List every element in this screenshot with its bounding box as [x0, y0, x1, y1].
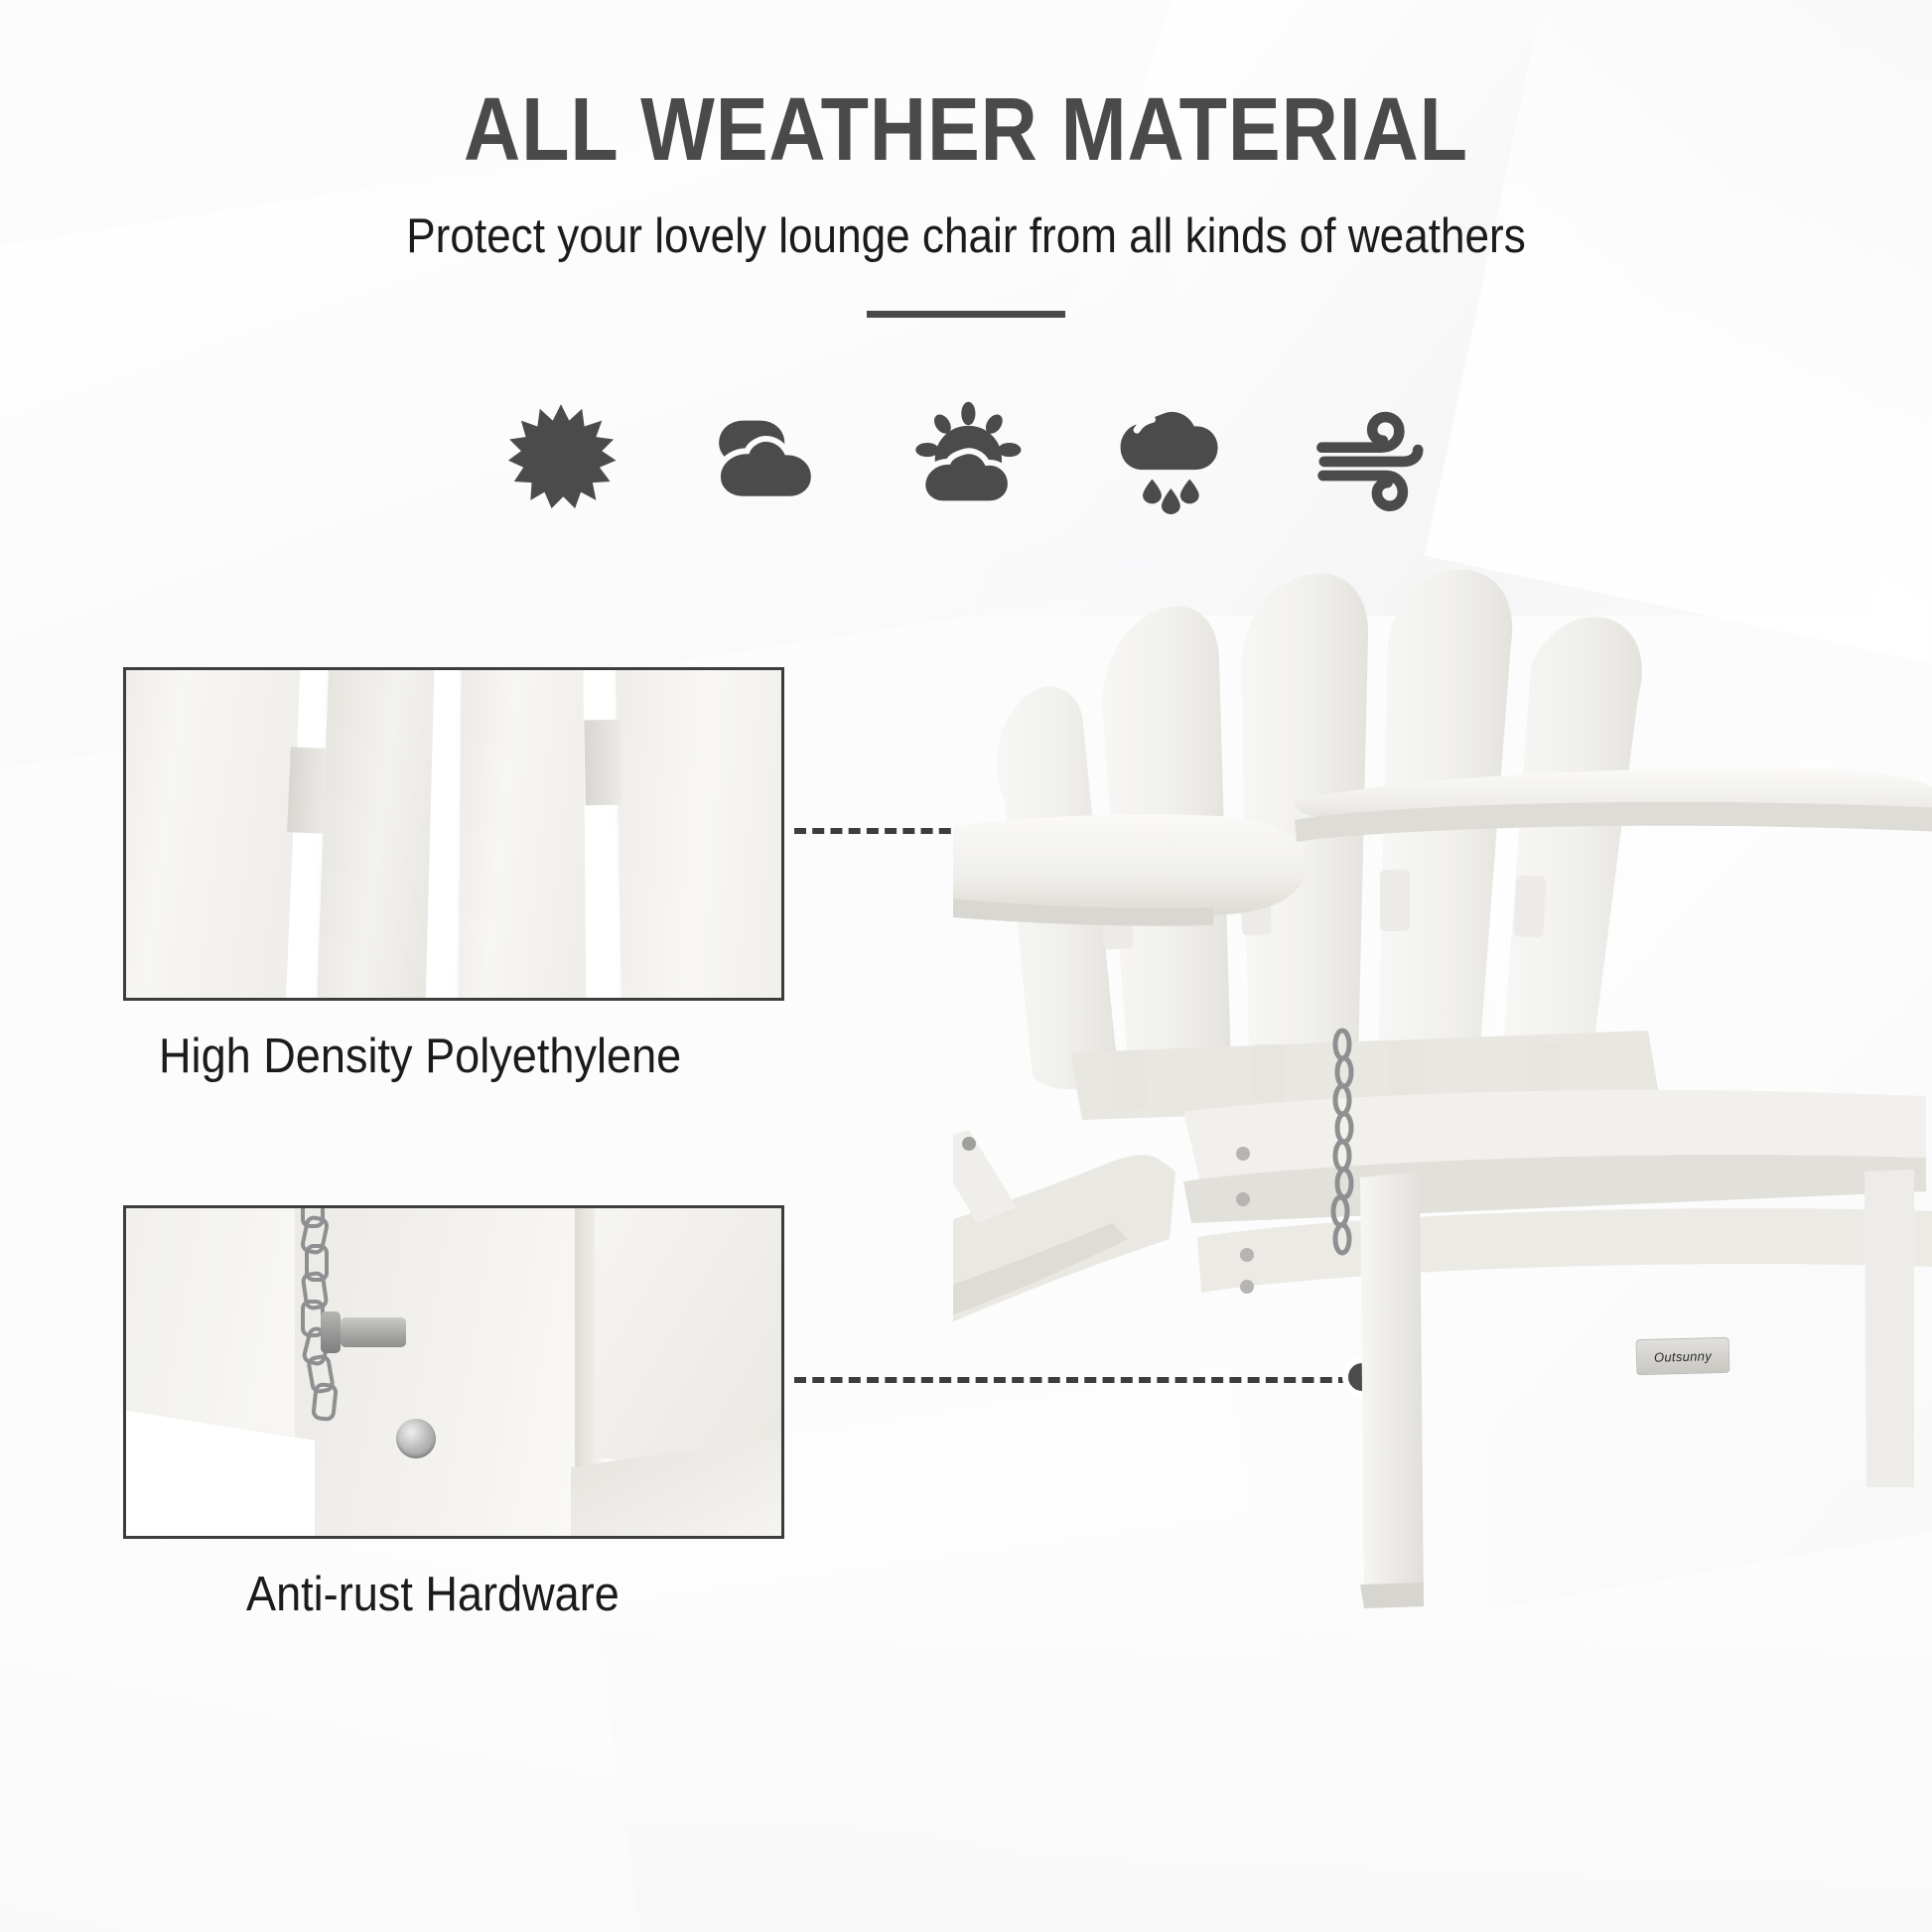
caption-hdpe: High Density Polyethylene: [159, 1029, 681, 1084]
pin-collar: [321, 1311, 341, 1353]
partly-sunny-icon: [907, 397, 1025, 514]
chair-leg-rear: [1864, 1170, 1914, 1487]
brand-badge: Outsunny: [1636, 1337, 1730, 1375]
product-image-chair: [953, 556, 1932, 1807]
chair-leg-front: [1360, 1172, 1424, 1608]
chair-arm-left: [953, 814, 1307, 925]
anti-rust-pin: [341, 1317, 406, 1347]
caption-hardware: Anti-rust Hardware: [246, 1567, 620, 1622]
title-divider: [867, 311, 1065, 318]
header-block: ALL WEATHER MATERIAL Protect your lovely…: [0, 0, 1932, 318]
cloudy-icon: [705, 397, 822, 514]
chair-front-bracket: [953, 1130, 1175, 1356]
chair-seat-frame: [1183, 1090, 1932, 1294]
infographic-canvas: ALL WEATHER MATERIAL Protect your lovely…: [0, 0, 1932, 1932]
inset-hw: [123, 1205, 784, 1539]
page-title: ALL WEATHER MATERIAL: [116, 83, 1816, 178]
sun-icon: [502, 397, 620, 514]
inset-hdpe: [123, 667, 784, 1001]
weather-icon-row: [0, 397, 1932, 514]
wind-icon: [1312, 397, 1430, 514]
page-subtitle: Protect your lovely lounge chair from al…: [96, 207, 1835, 266]
anti-rust-screw: [396, 1419, 436, 1458]
rain-cloud-icon: [1110, 397, 1227, 514]
